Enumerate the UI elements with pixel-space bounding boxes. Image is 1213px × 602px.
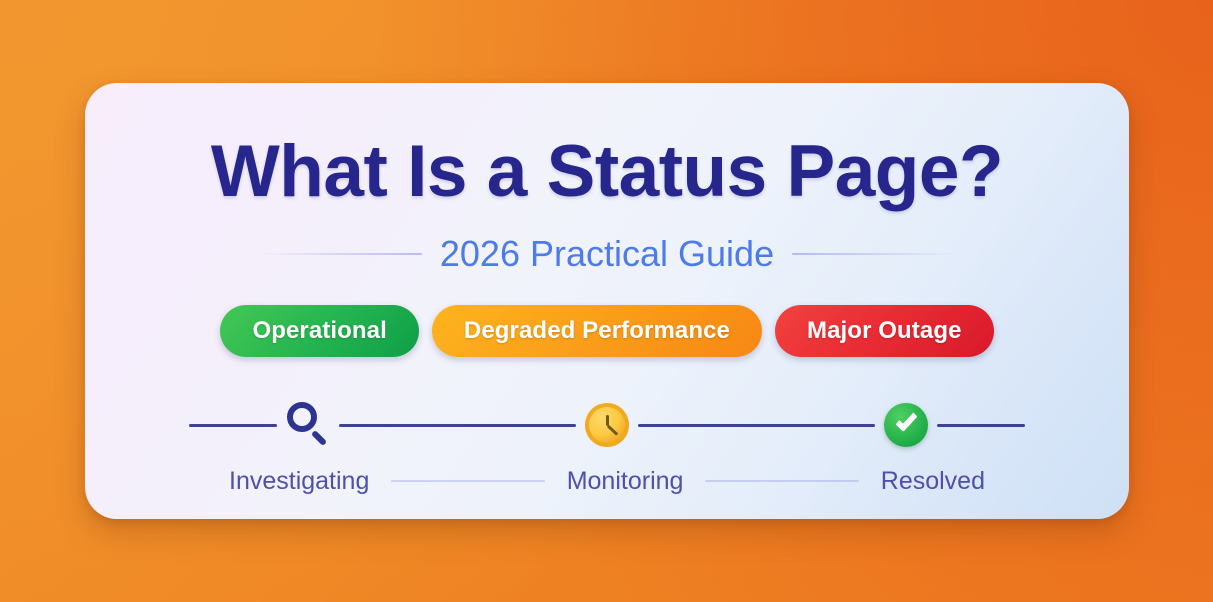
page-title: What Is a Status Page? (85, 132, 1129, 212)
timeline-node-resolved[interactable] (879, 398, 933, 452)
timeline-track-1 (339, 424, 576, 427)
label-connector-2 (705, 480, 858, 482)
subtitle-rule-left (262, 253, 422, 255)
timeline-node-monitoring[interactable] (580, 398, 634, 452)
page-subtitle: 2026 Practical Guide (440, 233, 774, 275)
status-pill-operational[interactable]: Operational (220, 305, 418, 357)
timeline-track-row (189, 398, 1025, 452)
timeline-track-start (189, 424, 277, 427)
subtitle-rule-right (792, 253, 952, 255)
status-pill-group: Operational Degraded Performance Major O… (85, 305, 1129, 357)
check-circle-icon (884, 403, 928, 447)
status-page-card: What Is a Status Page? 2026 Practical Gu… (85, 83, 1129, 519)
page-background: What Is a Status Page? 2026 Practical Gu… (0, 0, 1213, 602)
timeline-track-end (937, 424, 1025, 427)
timeline-label-resolved: Resolved (881, 466, 985, 496)
timeline-label-row: Investigating Monitoring Resolved (189, 466, 1025, 496)
clock-icon (585, 403, 629, 447)
status-pill-major-outage[interactable]: Major Outage (775, 305, 994, 357)
incident-timeline: Investigating Monitoring Resolved (189, 398, 1025, 503)
timeline-track-2 (638, 424, 875, 427)
timeline-label-monitoring: Monitoring (567, 466, 684, 496)
label-connector-1 (391, 480, 544, 482)
subtitle-row: 2026 Practical Guide (85, 233, 1129, 275)
timeline-label-investigating: Investigating (229, 466, 369, 496)
magnifying-glass-icon (283, 400, 333, 450)
status-pill-degraded-performance[interactable]: Degraded Performance (432, 305, 762, 357)
timeline-node-investigating[interactable] (281, 398, 335, 452)
